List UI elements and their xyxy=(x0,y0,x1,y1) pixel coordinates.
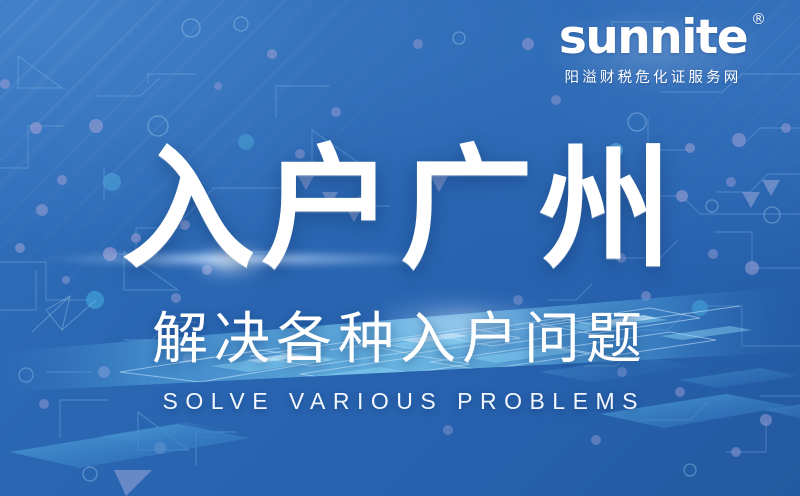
headline-block: 入户广州 xyxy=(0,140,800,281)
logo-tagline-cn: 阳溢财税危化证服务网 xyxy=(528,66,778,87)
promo-banner: sunnite ® 阳溢财税危化证服务网 入户广州 解决各种入户问题 SOLVE… xyxy=(0,0,800,496)
page-title: 入户广州 xyxy=(0,140,800,281)
logo-wordmark-text: sunnite xyxy=(559,10,747,65)
logo-wordmark: sunnite ® xyxy=(559,14,747,62)
tagline-en: SOLVE VARIOUS PROBLEMS xyxy=(0,390,800,413)
subheadline-cn: 解决各种入户问题 xyxy=(0,312,800,368)
brand-logo[interactable]: sunnite ® 阳溢财税危化证服务网 xyxy=(528,14,778,87)
registered-trademark-icon: ® xyxy=(751,12,766,27)
